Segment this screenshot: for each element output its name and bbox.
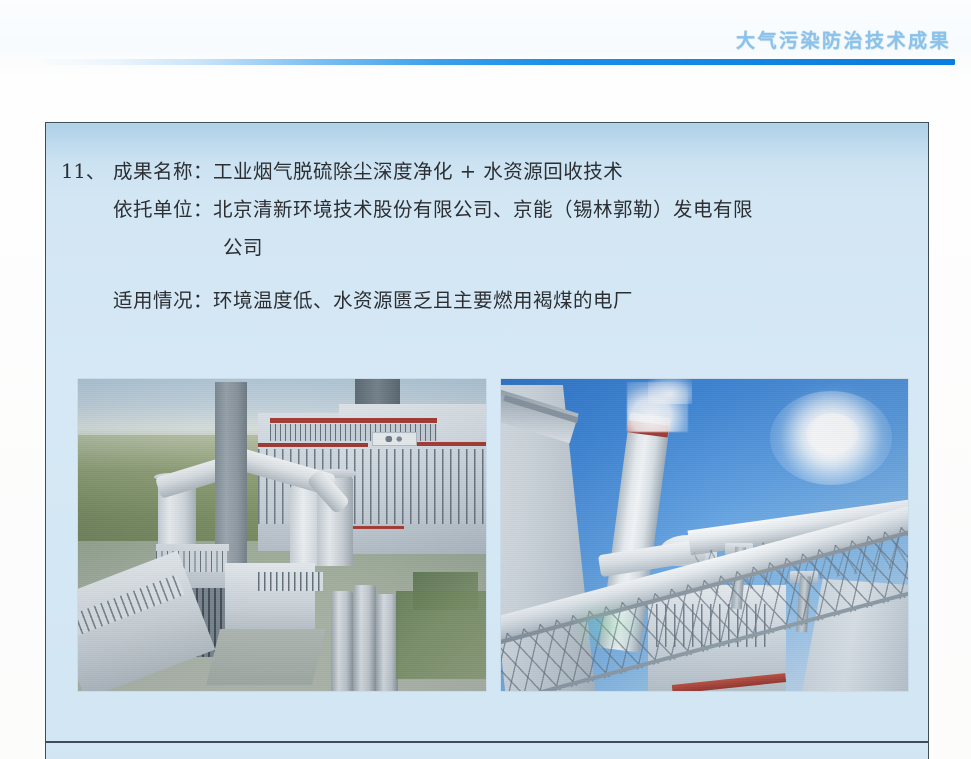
photo-row xyxy=(78,379,908,691)
photo-yard xyxy=(206,629,326,685)
photo-red-roof-trim-2 xyxy=(258,443,368,447)
photo-sun-core xyxy=(806,413,859,454)
text-spacer xyxy=(61,267,910,282)
entry-row-applicability: 11、 适用情况： 环境温度低、水资源匮乏且主要燃用褐煤的电厂 xyxy=(61,282,910,320)
document-page: 大气污染防治技术成果 11、 成果名称： 工业烟气脱硫除尘深度净化 + 水资源回… xyxy=(0,0,971,759)
entry-value-applicable-situation: 环境温度低、水资源匮乏且主要燃用褐煤的电厂 xyxy=(213,282,910,320)
entry-value-achievement-name: 工业烟气脱硫除尘深度净化 + 水资源回收技术 xyxy=(213,153,910,191)
entry-number: 11、 xyxy=(61,153,113,191)
page-header-title: 大气污染防治技术成果 xyxy=(736,26,951,53)
photo-silo-1 xyxy=(331,591,353,691)
entry-text-block: 11、 成果名称： 工业烟气脱硫除尘深度净化 + 水资源回收技术 11、 依托单… xyxy=(61,153,910,320)
section-divider xyxy=(46,741,928,743)
page-header: 大气污染防治技术成果 xyxy=(0,0,971,74)
entry-label-supporting-unit: 依托单位： xyxy=(113,191,213,229)
photo-silo-3 xyxy=(376,594,398,691)
photo-low-building-3-windows xyxy=(258,572,323,591)
header-rule-icon xyxy=(34,59,955,65)
photo-building-sign xyxy=(372,432,417,446)
entry-row-organization-continued: 公司 xyxy=(61,229,910,267)
power-plant-aerial-photo xyxy=(78,379,486,691)
entry-label-achievement-name: 成果名称： xyxy=(113,153,213,191)
entry-value-supporting-unit-continued: 公司 xyxy=(113,229,910,267)
entry-row-name: 11、 成果名称： 工业烟气脱硫除尘深度净化 + 水资源回收技术 xyxy=(61,153,910,191)
photo-red-roof-trim-1 xyxy=(270,418,437,423)
entry-row-organization: 11、 依托单位： 北京清新环境技术股份有限公司、京能（锡林郭勒）发电有限 xyxy=(61,191,910,229)
photo-greenery-1 xyxy=(396,591,486,678)
entry-value-supporting-unit: 北京清新环境技术股份有限公司、京能（锡林郭勒）发电有限 xyxy=(213,191,910,229)
photo-lens-flare xyxy=(574,604,639,648)
content-frame: 11、 成果名称： 工业烟气脱硫除尘深度净化 + 水资源回收技术 11、 依托单… xyxy=(45,122,929,759)
entry-number-placeholder-2: 11、 xyxy=(61,282,113,320)
chimney-upward-photo xyxy=(501,379,908,691)
photo-silo-2 xyxy=(353,585,375,691)
entry-label-applicable-situation: 适用情况： xyxy=(113,282,213,320)
entry-number-placeholder: 11、 xyxy=(61,191,113,229)
photo-steam-plume-top xyxy=(648,379,693,404)
